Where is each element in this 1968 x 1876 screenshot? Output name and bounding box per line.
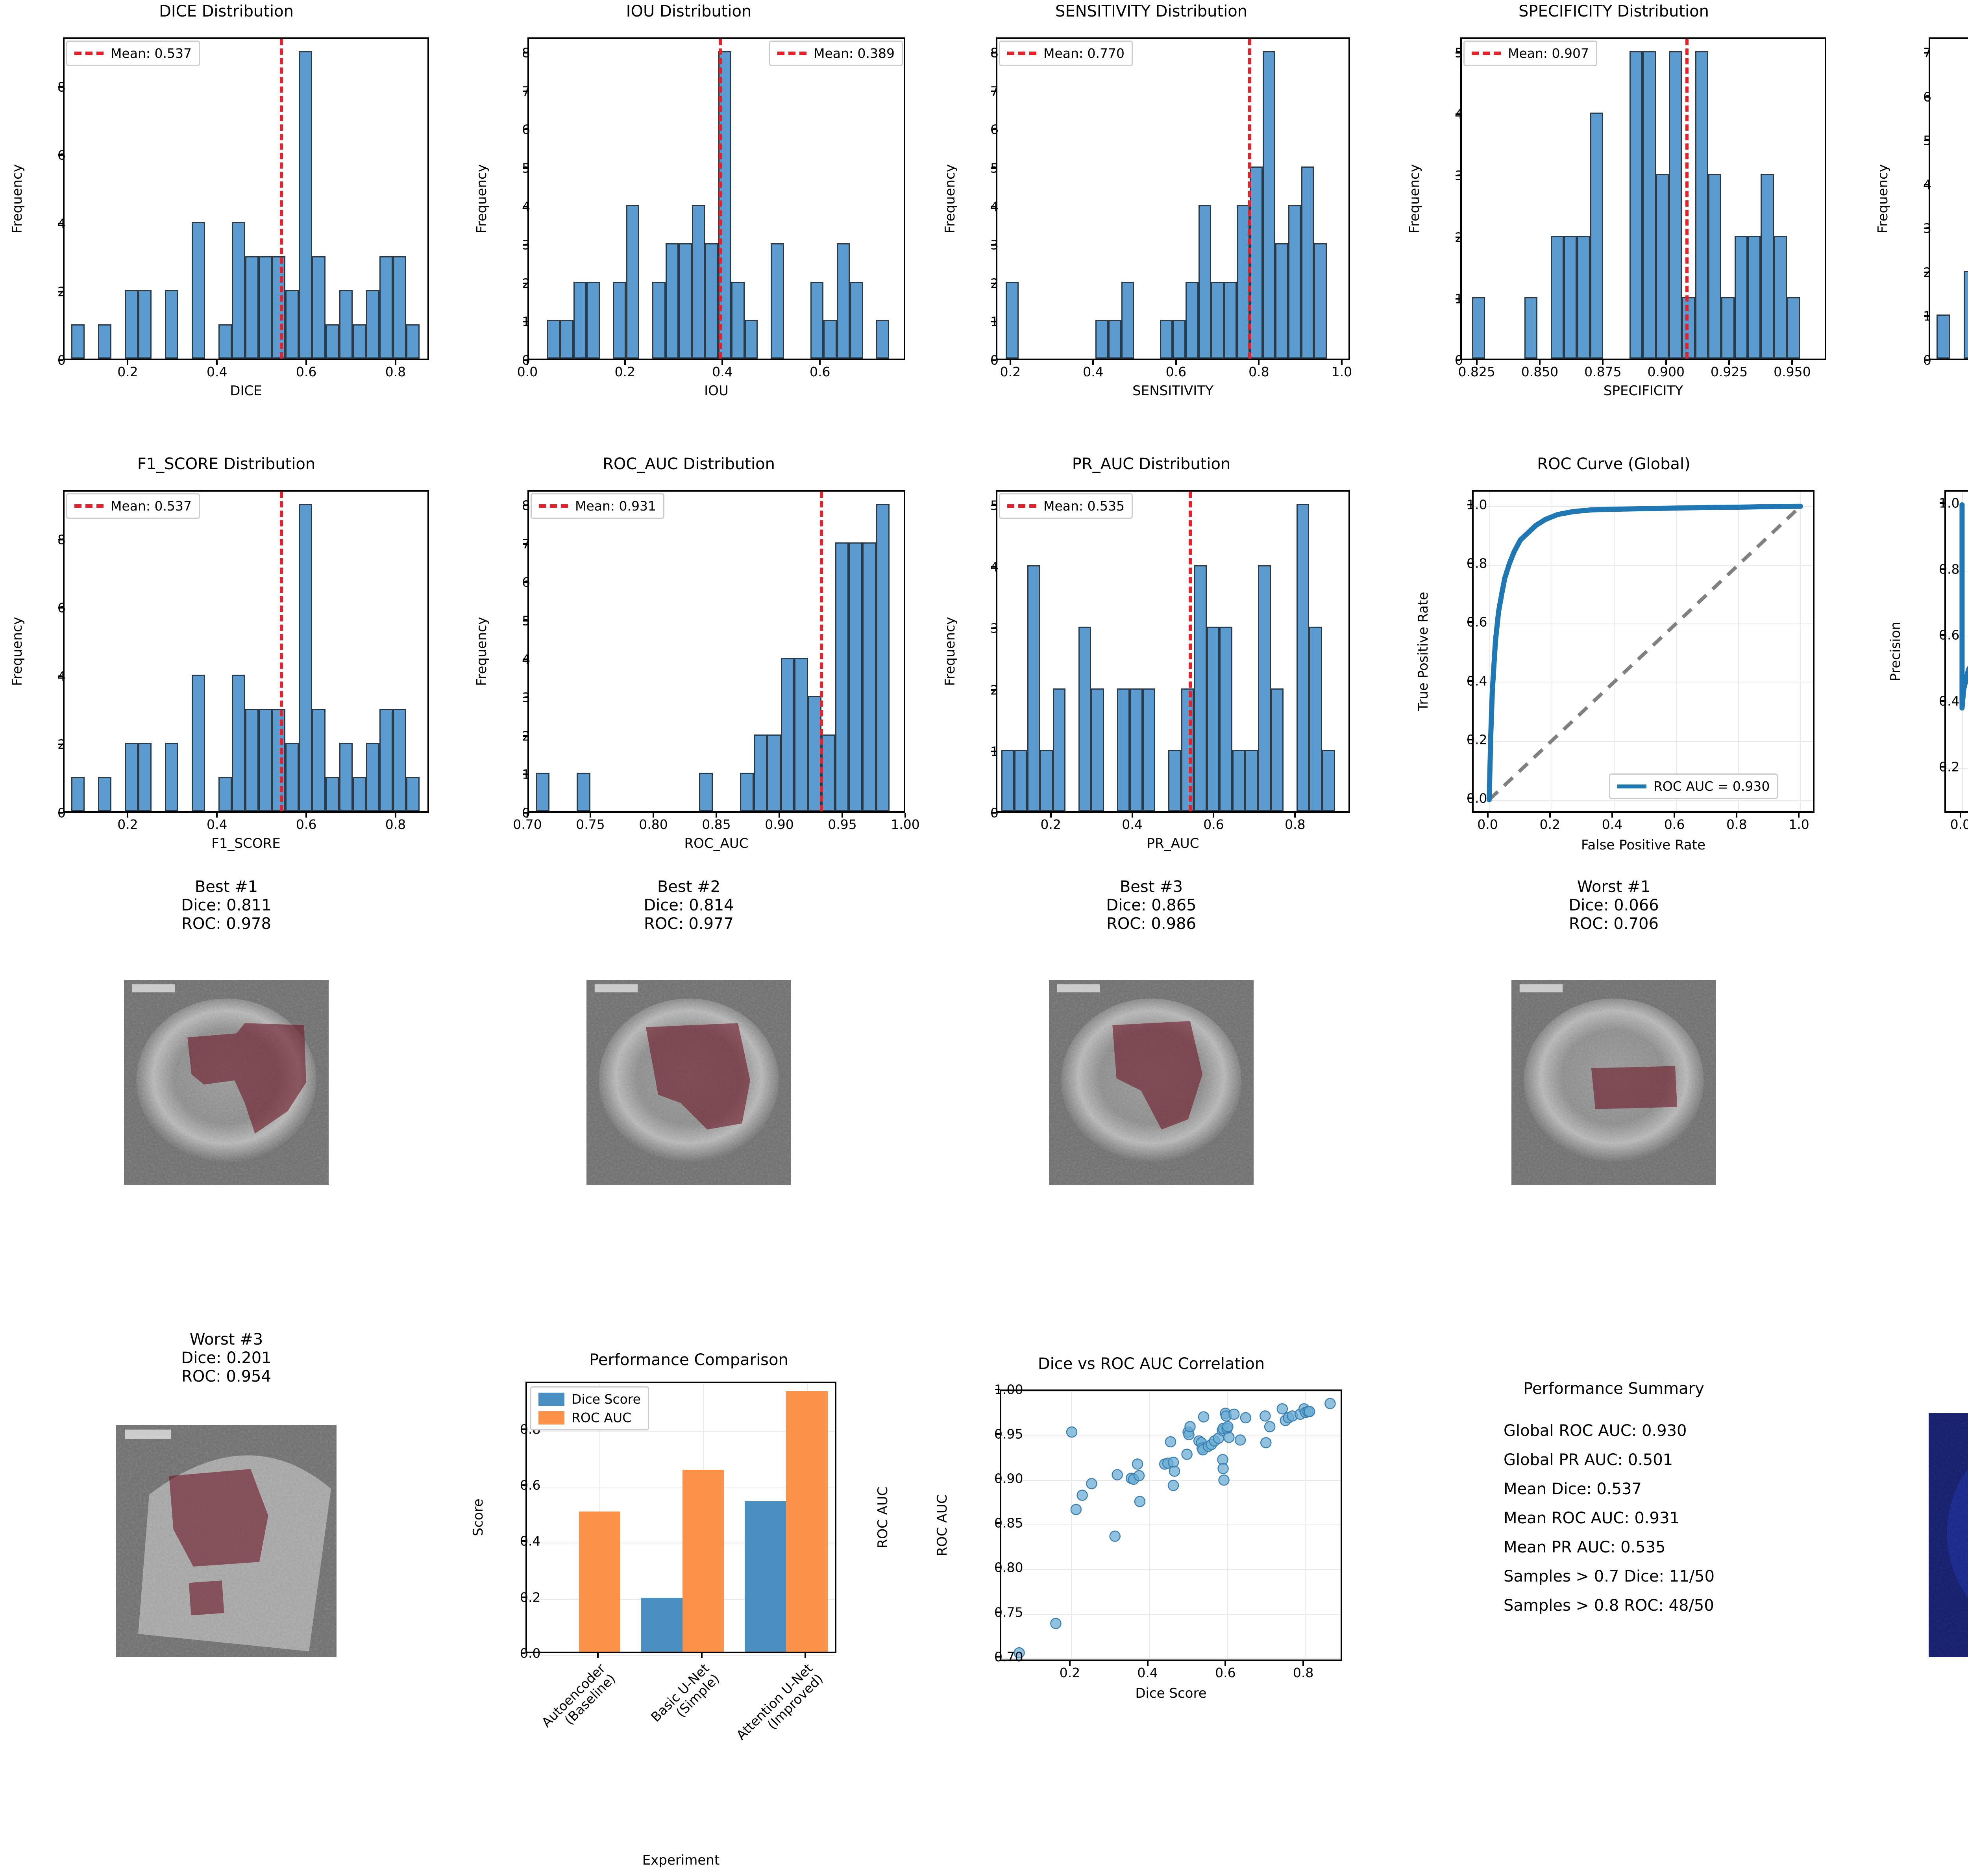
probmap-caption: Probability MapDice: 0.578: [1850, 1357, 1968, 1394]
image-dice: Dice: 0.865: [925, 896, 1378, 915]
x-tick-mark: [1791, 360, 1793, 365]
x-tick-label: 1.0: [1789, 817, 1809, 832]
image-label: Best #1: [0, 878, 453, 896]
histogram-bar: [218, 777, 232, 811]
y-tick-mark: [523, 581, 527, 583]
histogram-bar: [754, 734, 768, 811]
x-tick-mark: [1258, 360, 1260, 365]
legend-label: Mean: 0.389: [814, 46, 895, 61]
image-caption: Worst #3Dice: 0.201ROC: 0.954: [0, 1330, 453, 1386]
y-tick-mark: [58, 291, 63, 292]
y-tick-mark: [991, 627, 996, 629]
summary-item: Samples > 0.8 ROC: 48/50: [1504, 1598, 1715, 1613]
x-tick-mark: [1175, 360, 1177, 365]
x-tick-mark: [1147, 1661, 1149, 1666]
legend-label: Mean: 0.535: [1043, 498, 1125, 514]
histogram-bar: [740, 773, 754, 811]
x-tick-mark: [305, 813, 307, 818]
image-caption: Best #2Dice: 0.814ROC: 0.977: [453, 878, 925, 934]
histogram-bar: [1173, 320, 1186, 359]
image-label: Worst #1: [1378, 878, 1850, 896]
x-tick-label: 0.850: [1521, 364, 1558, 379]
y-tick-mark: [523, 505, 527, 506]
histogram-bar: [138, 743, 152, 811]
y-tick-mark: [523, 167, 527, 169]
histogram-bar: [1130, 688, 1143, 811]
x-tick-label: 1.00: [891, 817, 919, 832]
histogram-bar: [1091, 688, 1104, 811]
y-tick-mark: [523, 52, 527, 54]
y-tick-mark: [1924, 359, 1929, 361]
image-panel: Best #1Dice: 0.811ROC: 0.978: [0, 878, 453, 1330]
x-tick-mark: [653, 813, 654, 818]
mean-dash-icon: [777, 52, 806, 55]
image-dice: Dice: 0.811: [0, 896, 453, 915]
histogram-bar: [705, 243, 718, 359]
x-tick-mark: [1050, 813, 1052, 818]
scatter-points: [1001, 1391, 1344, 1663]
histogram-bar: [1275, 243, 1288, 359]
histogram-bar: [353, 324, 366, 359]
y-tick-mark: [1940, 700, 1944, 702]
image-panel: Worst #2Dice: 0.160ROC: 0.739: [1850, 878, 1968, 1330]
probmap-title: Probability Map: [1850, 1357, 1968, 1376]
histogram-bar: [876, 320, 889, 359]
panel-title: SPECIFICITY Distribution: [1378, 2, 1850, 21]
x-tick-mark: [1611, 813, 1613, 818]
histogram-bar: [1787, 297, 1800, 359]
x-tick-mark: [1092, 360, 1094, 365]
histogram-bar: [699, 773, 713, 811]
image-caption: Best #1Dice: 0.811ROC: 0.978: [0, 878, 453, 934]
y-tick-mark: [995, 1522, 1000, 1524]
x-tick-label: 0.4: [1083, 364, 1103, 379]
ultrasound-image: [1511, 980, 1716, 1185]
histogram-bar: [781, 658, 795, 811]
histogram-bar: [339, 290, 353, 359]
y-tick-mark: [58, 223, 63, 224]
x-tick-label: 0.925: [1711, 364, 1748, 379]
histogram-bar: [577, 773, 590, 811]
image-dice: Dice: 0.160: [1850, 896, 1968, 915]
image-caption: Worst #2Dice: 0.160ROC: 0.739: [1850, 878, 1968, 934]
histogram-bar: [613, 282, 626, 359]
histogram-bar: [366, 743, 379, 811]
y-axis-label: ROC AUC: [934, 1495, 950, 1556]
histogram-bar: [285, 290, 299, 359]
y-tick-mark: [1467, 797, 1472, 799]
y-tick-mark: [991, 505, 996, 506]
y-tick-mark: [523, 735, 527, 737]
plot-axes: [1929, 37, 1968, 360]
histogram-bar: [1551, 236, 1564, 359]
x-tick-mark: [779, 813, 780, 818]
histogram-bar: [666, 243, 679, 359]
y-tick-mark: [991, 52, 996, 54]
y-axis-label: Frequency: [1875, 164, 1891, 233]
image-caption: Best #3Dice: 0.865ROC: 0.986: [925, 878, 1378, 934]
histogram-bar: [393, 256, 406, 359]
chart-legend: Mean: 0.537: [66, 493, 200, 519]
histogram-bar: [821, 734, 835, 811]
y-axis-label-right: ROC AUC: [875, 1487, 891, 1549]
y-tick-mark: [523, 129, 527, 130]
panel-title: PRECISION Distribution: [1850, 2, 1968, 21]
chart-panel-precision: PRECISION Distribution012345670.20.40.60…: [1850, 0, 1968, 425]
y-tick-mark: [991, 129, 996, 130]
histogram-bar: [876, 504, 890, 811]
chart-panel-scatter: Dice vs ROC AUC Correlation0.700.750.800…: [925, 1330, 1378, 1783]
figure-canvas: DICE Distribution024680.20.40.60.8Freque…: [0, 0, 1968, 1876]
plot-axes: [63, 490, 429, 813]
chart-panel-curve: ROC Curve (Global)0.00.20.40.60.81.00.00…: [1378, 453, 1850, 878]
histogram-bar: [1245, 750, 1258, 811]
chart-legend: Mean: 0.535: [999, 493, 1133, 519]
histogram-bar: [1301, 167, 1314, 359]
panel-title: Dice vs ROC AUC Correlation: [925, 1355, 1378, 1373]
x-axis-label: DICE: [230, 383, 262, 399]
x-tick-mark: [805, 1653, 806, 1658]
x-tick-label: 0.0: [517, 364, 538, 379]
histogram-bar: [1078, 627, 1091, 811]
y-axis-label: Frequency: [474, 164, 490, 233]
mean-line: [719, 39, 722, 359]
summary-item: Mean Dice: 0.537: [1504, 1481, 1715, 1497]
histogram-bar: [1577, 236, 1590, 359]
x-tick-mark: [127, 360, 128, 365]
histogram-bar: [586, 282, 599, 359]
histogram-bar: [1001, 750, 1014, 811]
legend-label: ROC AUC: [572, 1410, 631, 1425]
y-tick-mark: [1940, 634, 1944, 636]
x-tick-mark: [819, 360, 821, 365]
y-tick-mark: [991, 751, 996, 752]
y-tick-mark: [991, 321, 996, 322]
x-tick-mark: [1798, 813, 1800, 818]
histogram-bar: [192, 675, 205, 811]
legend-label: Mean: 0.907: [1508, 46, 1589, 61]
y-tick-mark: [995, 1656, 1000, 1658]
y-tick-mark: [1924, 140, 1929, 141]
histogram-bar: [1186, 282, 1199, 359]
histogram-bar: [1309, 627, 1322, 811]
chart-panel-f1_score: F1_SCORE Distribution024680.20.40.60.8Fr…: [0, 453, 453, 878]
y-tick-mark: [58, 744, 63, 745]
y-tick-mark: [1940, 766, 1944, 768]
x-tick-mark: [1539, 360, 1541, 365]
x-tick-label: 0.900: [1647, 364, 1684, 379]
y-tick-mark: [991, 244, 996, 246]
image-dice: Dice: 0.814: [453, 896, 925, 915]
summary-item: Samples > 0.7 Dice: 11/50: [1504, 1569, 1715, 1584]
summary-item: Global PR AUC: 0.501: [1504, 1452, 1715, 1468]
histogram-bar: [1168, 750, 1181, 811]
histogram-bar: [326, 777, 339, 811]
x-axis-label: IOU: [704, 383, 729, 399]
mean-line: [820, 492, 823, 811]
histogram-bar: [339, 743, 353, 811]
x-axis-label: F1_SCORE: [211, 836, 280, 851]
x-tick-label: 0.6: [1215, 1665, 1236, 1680]
histogram-bar: [1564, 236, 1577, 359]
x-tick-mark: [1665, 360, 1667, 365]
histogram-bar: [326, 324, 339, 359]
histogram-bar: [1160, 320, 1173, 359]
bar-roc: [786, 1391, 827, 1652]
x-tick-label: 0.6: [1166, 364, 1186, 379]
histogram-bar: [1288, 205, 1301, 359]
histogram-bar: [679, 243, 692, 359]
x-tick-label: 1.0: [1332, 364, 1352, 379]
histogram-bar: [125, 743, 138, 811]
x-tick-label: 0.4: [712, 364, 732, 379]
histogram-bar: [1271, 688, 1284, 811]
chart-panel-sensitivity: SENSITIVITY Distribution0123456780.20.40…: [925, 0, 1378, 425]
mean-line: [280, 492, 283, 811]
histogram-bar: [245, 709, 259, 811]
histogram-bar: [218, 324, 232, 359]
histogram-bar: [1006, 282, 1019, 359]
histogram-bar: [192, 222, 205, 359]
histogram-bar: [1027, 565, 1040, 811]
plot-axes: [1460, 37, 1826, 360]
mean-dash-icon: [1007, 504, 1036, 508]
histogram-bar: [406, 324, 420, 359]
histogram-bar: [1258, 565, 1271, 811]
legend-label: Mean: 0.770: [1043, 46, 1125, 61]
histogram-bar: [232, 222, 245, 359]
ultrasound-image: [586, 980, 791, 1185]
x-tick-label: 0.2: [117, 817, 138, 832]
curve-plot: [1474, 492, 1816, 814]
y-tick-mark: [58, 359, 63, 361]
y-tick-mark: [1467, 739, 1472, 740]
x-tick-label: 0.2: [117, 364, 138, 379]
x-tick-mark: [1302, 1661, 1304, 1666]
chart-legend: Mean: 0.389: [769, 41, 903, 66]
y-tick-mark: [1456, 52, 1460, 54]
x-tick-mark: [1487, 813, 1489, 818]
x-tick-label: 0.6: [1664, 817, 1685, 832]
x-tick-label: 0.2: [1000, 364, 1021, 379]
histogram-bar: [794, 658, 808, 811]
x-tick-mark: [395, 360, 396, 365]
image-label: Worst #2: [1850, 878, 1968, 896]
histogram-bar: [1748, 236, 1761, 359]
y-tick-mark: [995, 1478, 1000, 1479]
histogram-bar: [547, 320, 560, 359]
chart-panel-dice: DICE Distribution024680.20.40.60.8Freque…: [0, 0, 453, 425]
image-panel: Worst #1Dice: 0.066ROC: 0.706: [1378, 878, 1850, 1330]
histogram-bar: [1014, 750, 1027, 811]
panel-title: F1_SCORE Distribution: [0, 455, 453, 474]
histogram-bar: [808, 696, 822, 811]
panel-title: PR_AUC Distribution: [925, 455, 1378, 474]
x-tick-mark: [624, 360, 626, 365]
y-tick-mark: [1467, 621, 1472, 623]
histogram-bar: [1232, 750, 1245, 811]
panel-title: ROC_AUC Distribution: [453, 455, 925, 474]
histogram-bar: [1199, 205, 1212, 359]
histogram-bar: [232, 675, 245, 811]
x-tick-label: 0.4: [207, 817, 227, 832]
y-tick-mark: [1924, 272, 1929, 273]
y-tick-mark: [523, 773, 527, 775]
image-roc: ROC: 0.706: [1378, 915, 1850, 933]
y-axis-label: Frequency: [942, 617, 958, 686]
x-tick-label: 0.4: [1122, 817, 1142, 832]
y-tick-mark: [1456, 298, 1460, 300]
x-tick-label: 0.950: [1774, 364, 1811, 379]
x-tick-mark: [597, 1653, 599, 1658]
plot-axes: [1000, 1389, 1342, 1661]
x-tick-mark: [1674, 813, 1675, 818]
image-dice: Dice: 0.066: [1378, 896, 1850, 915]
x-axis-label: Dice Score: [1135, 1685, 1206, 1701]
legend-label: Mean: 0.537: [111, 498, 192, 514]
image-label: Best #2: [453, 878, 925, 896]
histogram-bar: [810, 282, 823, 359]
y-tick-mark: [1924, 315, 1929, 317]
x-tick-label: 0.80: [639, 817, 668, 832]
image-dice: Dice: 0.201: [0, 1349, 453, 1367]
plot-axes: [996, 490, 1350, 813]
x-axis-label: SPECIFICITY: [1604, 383, 1683, 399]
y-tick-mark: [1467, 504, 1472, 505]
x-tick-label: 0.6: [810, 364, 830, 379]
histogram-bar: [1263, 51, 1276, 359]
y-tick-mark: [523, 659, 527, 660]
image-panel: Best #3Dice: 0.865ROC: 0.986: [925, 878, 1378, 1330]
image-panel: Best #2Dice: 0.814ROC: 0.977: [453, 878, 925, 1330]
mean-dash-icon: [74, 52, 104, 55]
histogram-bar: [767, 734, 781, 811]
panel-title: Precision-Recall Curve (Global): [1850, 455, 1968, 474]
image-roc: ROC: 0.986: [925, 915, 1378, 933]
ultrasound-image: [1049, 980, 1254, 1185]
x-tick-mark: [904, 813, 906, 818]
y-tick-mark: [1467, 680, 1472, 682]
histogram-bar: [771, 243, 784, 359]
y-tick-mark: [995, 1611, 1000, 1613]
image-panel: Worst #3Dice: 0.201ROC: 0.954: [0, 1330, 453, 1783]
x-tick-label: 0.8: [385, 817, 406, 832]
legend-label: Dice Score: [572, 1391, 641, 1407]
panel-title: IOU Distribution: [453, 2, 925, 21]
y-tick-mark: [58, 812, 63, 814]
histogram-bar: [1735, 236, 1748, 359]
probability-heatmap: [1929, 1413, 1968, 1657]
summary-item: Global ROC AUC: 0.930: [1504, 1423, 1715, 1439]
histogram-bar: [285, 743, 299, 811]
histogram-bar: [1642, 51, 1655, 359]
y-tick-mark: [991, 91, 996, 92]
y-tick-mark: [58, 154, 63, 156]
y-tick-mark: [523, 321, 527, 322]
x-tick-mark: [1294, 813, 1296, 818]
x-tick-label: 0.95: [828, 817, 856, 832]
x-tick-label: 0.4: [1602, 817, 1622, 832]
histogram-bar: [823, 320, 836, 359]
x-tick-mark: [1736, 813, 1737, 818]
x-tick-mark: [1341, 360, 1343, 365]
x-tick-mark: [721, 360, 723, 365]
x-axis-label: Experiment: [642, 1852, 720, 1868]
y-tick-mark: [58, 86, 63, 88]
bar-roc: [579, 1512, 620, 1652]
y-tick-mark: [991, 566, 996, 568]
x-tick-label: 0.0: [1477, 817, 1498, 832]
histogram-bar: [1117, 688, 1130, 811]
y-tick-mark: [1924, 228, 1929, 229]
x-tick-mark: [1224, 1661, 1226, 1666]
histogram-bar: [259, 709, 272, 811]
x-tick-mark: [527, 813, 528, 818]
histogram-bar: [1108, 320, 1121, 359]
y-tick-mark: [521, 1428, 525, 1430]
bar-roc: [683, 1470, 724, 1652]
histogram-bar: [1053, 688, 1066, 811]
x-axis-label: PR_AUC: [1147, 836, 1199, 851]
chart-panel-iou: IOU Distribution0123456780.00.20.40.6Fre…: [453, 0, 925, 425]
histogram-bar: [1656, 174, 1669, 359]
x-tick-mark: [216, 813, 218, 818]
y-tick-mark: [1456, 113, 1460, 115]
histogram-bar: [366, 290, 379, 359]
mean-line: [1685, 39, 1689, 359]
performance-summary-panel: Performance SummaryGlobal ROC AUC: 0.930…: [1378, 1330, 1850, 1783]
panel-title: DICE Distribution: [0, 2, 453, 21]
y-tick-mark: [995, 1389, 1000, 1390]
chart-panel-pr_auc: PR_AUC Distribution0123450.20.40.60.8Fre…: [925, 453, 1378, 878]
plot-axes: [996, 37, 1350, 360]
histogram-bar: [259, 256, 272, 359]
histogram-bar: [1121, 282, 1134, 359]
histogram-bar: [1297, 504, 1310, 811]
x-tick-label: 0.2: [614, 364, 635, 379]
x-tick-mark: [701, 1653, 703, 1658]
summary-list: Global ROC AUC: 0.930Global PR AUC: 0.50…: [1504, 1423, 1715, 1627]
x-tick-mark: [716, 813, 717, 818]
y-tick-mark: [1924, 52, 1929, 54]
y-tick-mark: [523, 620, 527, 622]
x-axis-label: SENSITIVITY: [1132, 383, 1213, 399]
chart-legend: ROC AUC = 0.930: [1609, 773, 1778, 799]
histogram-bar: [1211, 282, 1224, 359]
y-tick-mark: [1924, 184, 1929, 185]
y-tick-mark: [58, 607, 63, 609]
x-tick-mark: [1069, 1661, 1071, 1666]
y-tick-mark: [1456, 237, 1460, 238]
histogram-bar: [1095, 320, 1108, 359]
histogram-bar: [850, 282, 863, 359]
histogram-bar: [692, 205, 705, 359]
x-tick-mark: [1010, 360, 1011, 365]
y-tick-mark: [991, 206, 996, 207]
histogram-bar: [299, 504, 312, 811]
y-tick-mark: [1456, 175, 1460, 176]
chart-panel-roc_auc: ROC_AUC Distribution0123456780.700.750.8…: [453, 453, 925, 878]
histogram-bar: [1224, 282, 1237, 359]
y-axis-label: Score: [470, 1499, 486, 1536]
x-tick-label: 0.4: [1137, 1665, 1158, 1680]
x-tick-mark: [216, 360, 218, 365]
ultrasound-image: [124, 980, 329, 1185]
histogram-bar: [1937, 315, 1950, 359]
histogram-bar: [379, 709, 393, 811]
histogram-bar: [536, 773, 550, 811]
x-tick-label: 0.70: [513, 817, 542, 832]
